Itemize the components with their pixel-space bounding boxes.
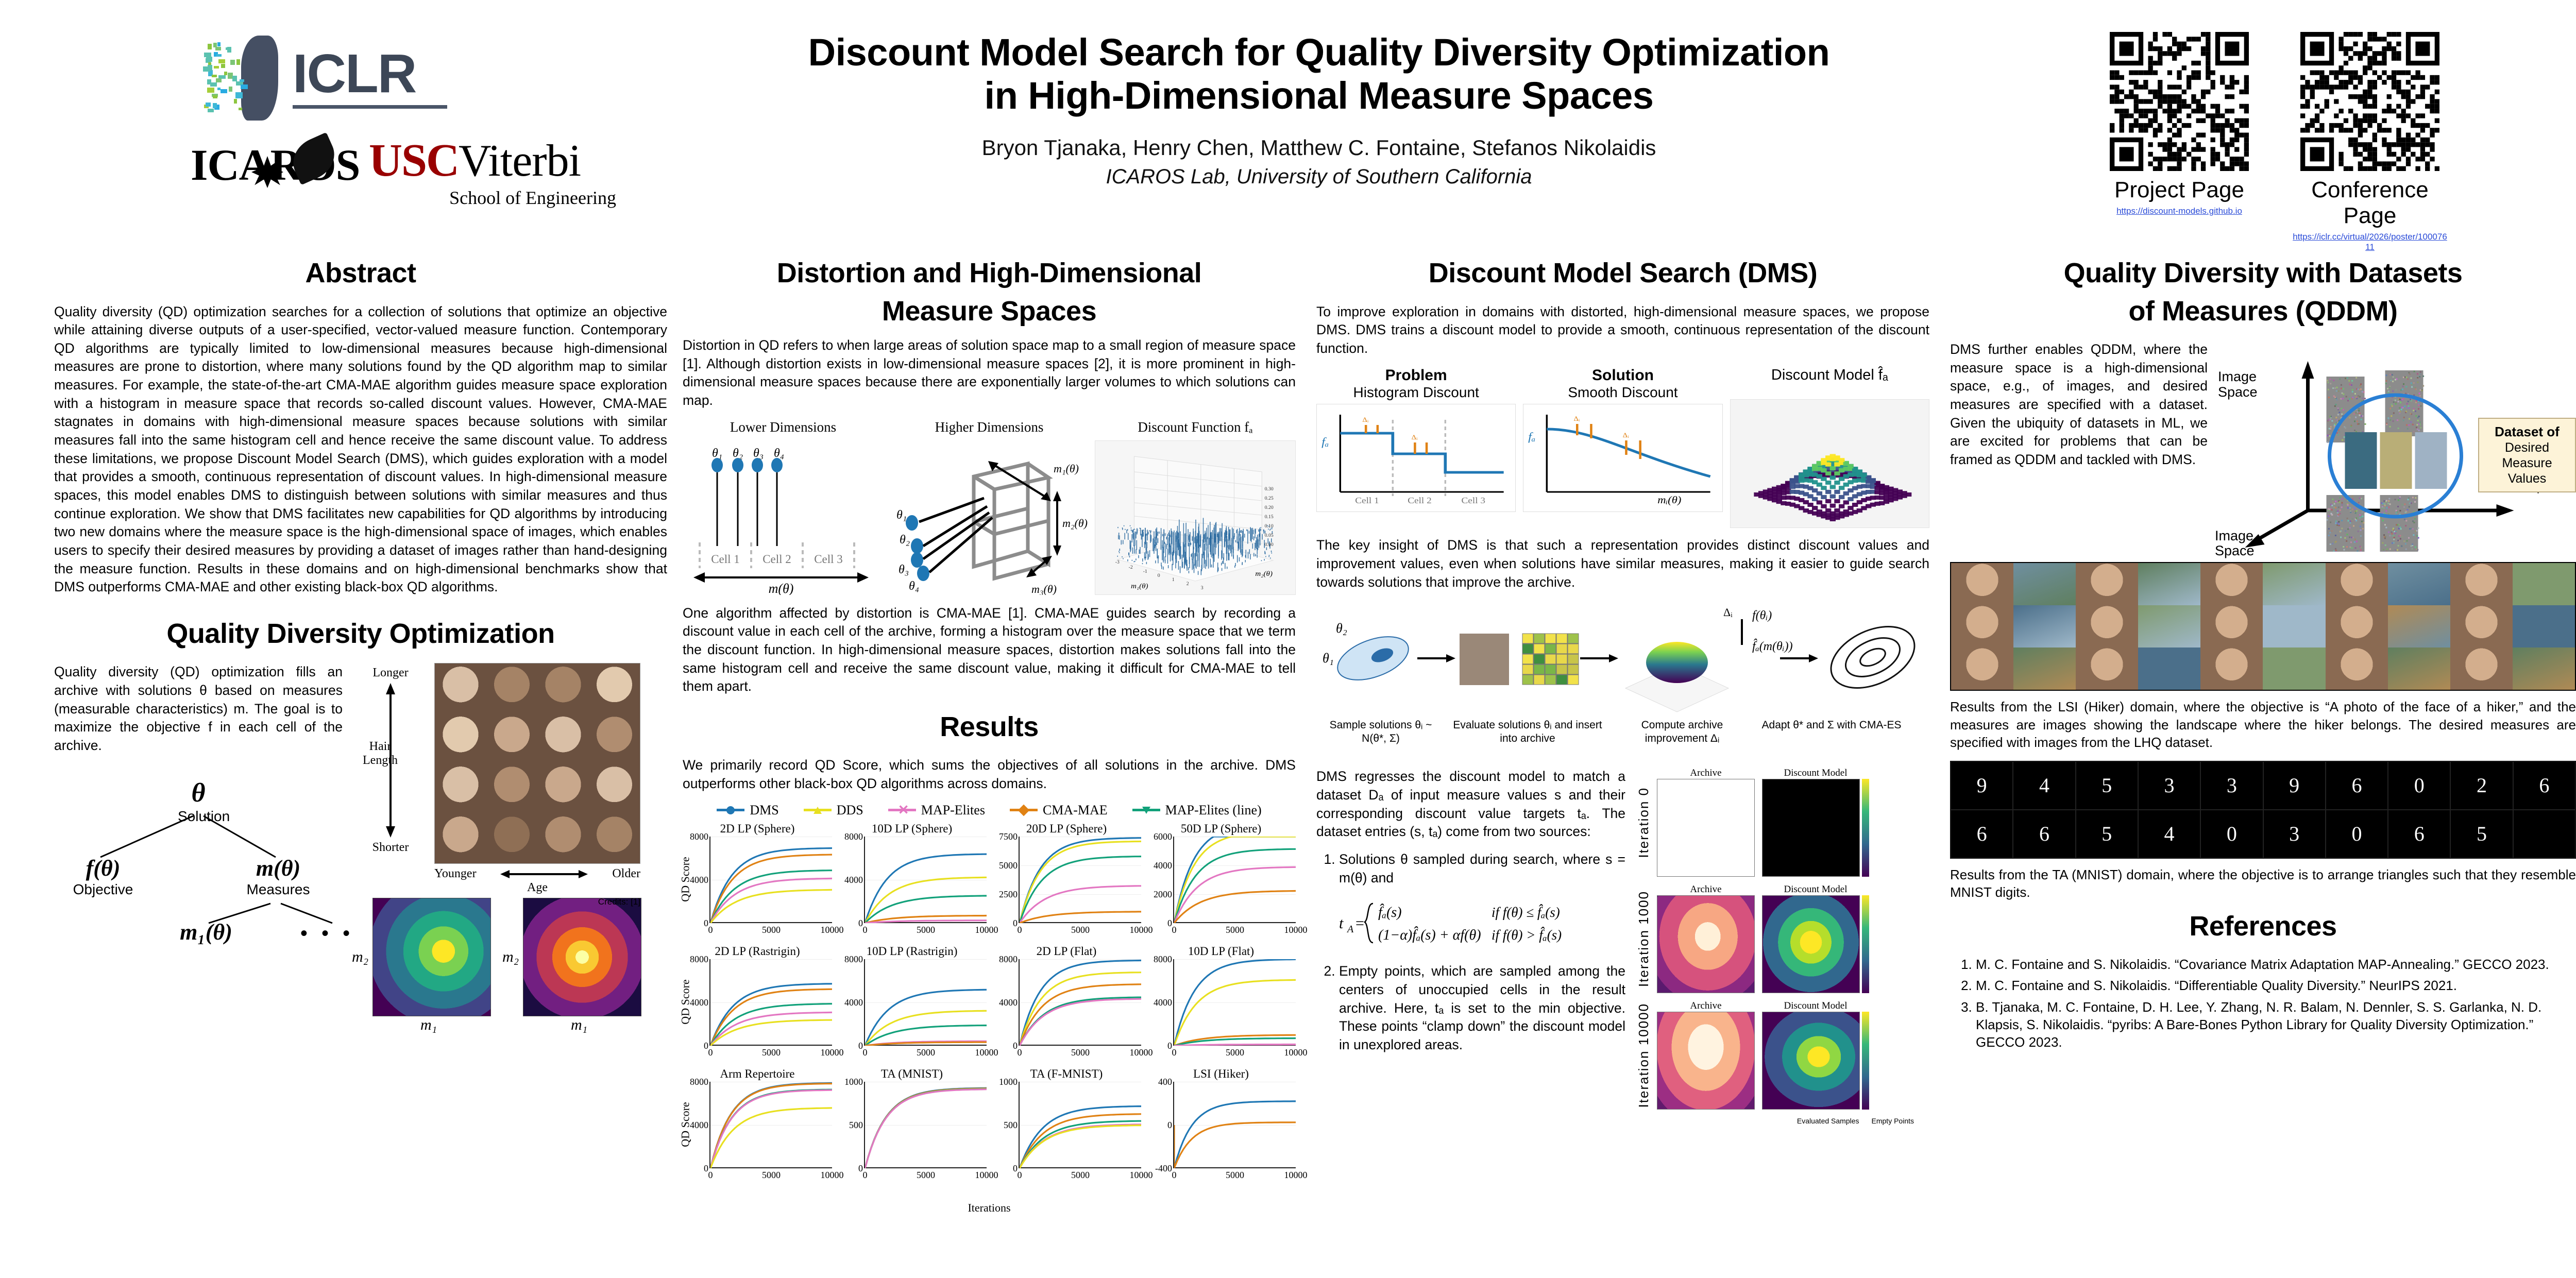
chart-panel: 50D LP (Sphere)02000400060000500010000 <box>1146 822 1296 941</box>
mnist-cell: 6 <box>2013 810 2075 858</box>
svg-text:t: t <box>1339 915 1344 932</box>
iteration-label: Iteration 10000 <box>1636 1003 1652 1107</box>
x-tick-label: 10000 <box>1284 925 1308 935</box>
dms-equation: t A = f̂ₐ(s) (1−α)f̂ₐ(s) + αf(θ) if f(θ)… <box>1316 894 1625 954</box>
model-title: Discount Model <box>1762 768 1869 779</box>
x-tick-label: 5000 <box>1226 1170 1244 1181</box>
lower-dimensions-diagram: θ₁θ₂ θ₃θ₄ <box>683 440 884 595</box>
mnist-cell: 3 <box>2138 761 2200 810</box>
mnist-cell: 4 <box>2138 810 2200 858</box>
y-tick-label: 500 <box>839 1120 863 1131</box>
credits-note: Credits: [1] <box>434 897 640 907</box>
archive-heatmaps: m₂ m₁ m₂ m₁ <box>352 898 661 1034</box>
model-image <box>1762 779 1860 877</box>
column-qddm: Quality Diversity with Datasets of Measu… <box>1950 258 2576 1055</box>
lsi-cell <box>2013 647 2076 690</box>
chart-plot-area: 0400080000500010000QD Score <box>709 837 832 923</box>
svg-text:Δᵢ: Δᵢ <box>1574 416 1581 423</box>
dms-iteration-figures: Iteration 0 Archive Discount Model Itera <box>1636 768 1924 1125</box>
abstract-heading: Abstract <box>54 258 667 289</box>
list-item: Solutions θ sampled during search, where… <box>1339 850 1625 887</box>
x-tick-label: 0 <box>863 1170 868 1181</box>
y-tick-label: 8000 <box>839 831 863 842</box>
qddm-heading-line2: of Measures (QDDM) <box>1950 296 2576 328</box>
y-tick-label: 2500 <box>994 889 1018 900</box>
tree-root-label: Solution <box>178 808 219 825</box>
dms-solution-sub: Smooth Discount <box>1523 384 1722 401</box>
abstract-text: Quality diversity (QD) optimization sear… <box>54 303 667 597</box>
model-title: Discount Model <box>1762 1000 1869 1012</box>
svg-text:2: 2 <box>1187 582 1189 587</box>
face-axis-bottom-label: Shorter <box>352 841 429 855</box>
x-tick-label: 10000 <box>1284 1170 1308 1181</box>
chart-panel: TA (F-MNIST)050010000500010000 <box>992 1067 1141 1186</box>
dataset-box-line1: Desired <box>2482 440 2572 455</box>
y-tick-label: 1000 <box>994 1077 1018 1087</box>
chart-panel: Arm Repertoire0400080000500010000QD Scor… <box>683 1067 832 1186</box>
svg-text:f̂ₐ(m(θᵢ)): f̂ₐ(m(θᵢ)) <box>1752 639 1793 653</box>
mnist-cell: 0 <box>2388 761 2450 810</box>
svg-text:0: 0 <box>1158 573 1160 578</box>
y-axis-title: QD Score <box>679 1102 692 1147</box>
results-text: We primarily record QD Score, which sums… <box>683 756 1296 793</box>
dms-problem-solution-figure: Problem Histogram Discount fₐ <box>1316 367 1929 528</box>
lsi-cell <box>2076 605 2138 647</box>
reference-item: M. C. Fontaine and S. Nikolaidis. “Diffe… <box>1976 977 2576 995</box>
svg-text:θ₃: θ₃ <box>753 447 764 460</box>
svg-text:m₂(θ): m₂(θ) <box>1255 570 1273 577</box>
usc-wordmark: USC <box>369 138 459 184</box>
dms-problem-plot: fₐ ΔᵢΔᵢ Cell 1Cell 2Cel <box>1316 404 1516 512</box>
dataset-box-line2: Measure <box>2482 455 2572 471</box>
dms-problem-panel: Problem Histogram Discount fₐ <box>1316 367 1516 528</box>
y-tick-label: 4000 <box>994 997 1018 1008</box>
iclr-logo: ICLR <box>191 28 716 126</box>
chart-plot-area: 02500500075000500010000 <box>1019 837 1141 923</box>
mnist-cell: 3 <box>2200 761 2263 810</box>
qr-conference-url[interactable]: https://iclr.cc/virtual/2026/poster/1000… <box>2293 232 2447 252</box>
mnist-cell <box>2513 810 2575 858</box>
reference-item: B. Tjanaka, M. C. Fontaine, D. H. Lee, Y… <box>1976 999 2576 1051</box>
dms-problem-heading: Problem <box>1316 367 1516 384</box>
poster-title-line1: Discount Model Search for Quality Divers… <box>690 31 1947 74</box>
svg-text:if f(θ) ≤ f̂ₐ(s): if f(θ) ≤ f̂ₐ(s) <box>1492 905 1560 921</box>
usc-school-label: School of Engineering <box>369 187 616 209</box>
iteration-label: Iteration 0 <box>1636 787 1652 858</box>
x-tick-label: 0 <box>863 925 868 935</box>
iteration-label: Iteration 1000 <box>1636 891 1652 987</box>
pipeline-caption-4: Adapt θ* and Σ with CMA-ES <box>1759 719 1904 744</box>
chart-panel: 20D LP (Sphere)02500500075000500010000 <box>992 822 1141 941</box>
usc-viterbi-logo: USC Viterbi School of Engineering <box>369 138 616 209</box>
author-list: Bryon Tjanaka, Henry Chen, Matthew C. Fo… <box>690 135 1947 160</box>
archive-image <box>1657 895 1755 993</box>
svg-text:θ₂: θ₂ <box>1336 621 1347 636</box>
heatmap1-x-label: m₁ <box>420 1016 437 1033</box>
chart-plot-area: 02000400060000500010000 <box>1173 837 1296 923</box>
colorbar <box>1862 1012 1869 1110</box>
chart-panel: 10D LP (Flat)0400080000500010000 <box>1146 945 1296 1063</box>
reference-list: M. C. Fontaine and S. Nikolaidis. “Covar… <box>1976 956 2576 1051</box>
lsi-cell <box>2326 647 2388 690</box>
mnist-cell: 6 <box>2388 810 2450 858</box>
y-tick-label: 5000 <box>994 860 1018 871</box>
reference-item: M. C. Fontaine and S. Nikolaidis. “Covar… <box>1976 956 2576 974</box>
lsi-cell <box>2013 605 2076 647</box>
gridline <box>865 1168 987 1169</box>
y-tick-label: 400 <box>1148 1077 1172 1087</box>
gridline <box>1174 923 1296 924</box>
svg-text:θ₃: θ₃ <box>899 563 909 576</box>
legend-label: DMS <box>750 803 778 818</box>
model-image <box>1762 895 1860 993</box>
pipeline-caption-1: Sample solutions θᵢ ~ N(θ*, Σ) <box>1316 719 1445 744</box>
svg-text:Δᵢ: Δᵢ <box>1623 432 1630 439</box>
lower-dimensions-caption: Lower Dimensions <box>683 419 884 435</box>
y-tick-label: 0 <box>1148 918 1172 929</box>
x-tick-label: 5000 <box>917 1047 935 1058</box>
face-axis-y-label-1: Hair <box>352 740 409 754</box>
qr-project[interactable]: Project Page https://discount-models.git… <box>2102 32 2257 252</box>
tree-objective-symbol: f(θ) <box>59 855 147 881</box>
pipeline-caption-2: Evaluate solutions θᵢ and insert into ar… <box>1450 719 1605 744</box>
affiliation: ICAROS Lab, University of Southern Calif… <box>690 165 1947 189</box>
qr-code-icon[interactable] <box>2300 32 2439 171</box>
tree-m1-symbol: m₁(θ) <box>160 919 252 945</box>
x-tick-label: 0 <box>1018 1170 1022 1181</box>
qd-opt-left: Quality diversity (QD) optimization fill… <box>54 663 343 1034</box>
dms-pipeline-figure: θ₂ θ₁ Δᵢ f(θᵢ) f̂ₐ(m(θᵢ)) <box>1316 601 1929 755</box>
heatmap1-image <box>372 898 491 1016</box>
x-tick-label: 5000 <box>1226 925 1244 935</box>
mnist-cell: 9 <box>1951 761 2013 810</box>
secondary-logos: ICAROS USC Viterbi School of Engineering <box>191 138 716 209</box>
higher-dimensions-figure: Higher Dimensions <box>889 419 1090 595</box>
gridline <box>865 1046 987 1046</box>
face-axis-x-right: Older <box>612 867 640 881</box>
qr-conference[interactable]: Conference Page https://iclr.cc/virtual/… <box>2293 32 2447 252</box>
svg-text:(1−α)f̂ₐ(s) + αf(θ): (1−α)f̂ₐ(s) + αf(θ) <box>1378 927 1481 943</box>
results-x-axis-title: Iterations <box>683 1201 1296 1215</box>
colorbar <box>1862 779 1869 877</box>
iteration-archive: Archive <box>1657 768 1755 877</box>
qddm-heading-line1: Quality Diversity with Datasets <box>1950 258 2576 289</box>
lsi-cell <box>2200 563 2263 605</box>
y-tick-label: 0 <box>839 1041 863 1051</box>
dataset-box-title: Dataset of <box>2482 424 2572 440</box>
y-tick-label: 0 <box>994 1041 1018 1051</box>
svg-text:fₐ: fₐ <box>1528 431 1535 444</box>
lsi-cell <box>2200 605 2263 647</box>
chart-panel: TA (MNIST)050010000500010000 <box>837 1067 987 1186</box>
column-dms: Discount Model Search (DMS) To improve e… <box>1316 258 1929 1125</box>
lsi-result-grid <box>1950 562 2576 691</box>
iteration-model: Discount Model <box>1762 1000 1869 1110</box>
qd-opt-text: Quality diversity (QD) optimization fill… <box>54 663 343 755</box>
chart-panel: 10D LP (Rastrigin)0400080000500010000 <box>837 945 987 1063</box>
heatmap-2: m₂ m₁ <box>502 898 641 1034</box>
x-tick-label: 5000 <box>917 925 935 935</box>
qd-opt-right: Longer Hair Length Shorter <box>352 663 661 1034</box>
lsi-cell <box>2450 605 2513 647</box>
iclr-underline <box>293 105 447 109</box>
lsi-cell <box>2263 647 2325 690</box>
heatmap-1: m₂ m₁ <box>352 898 491 1034</box>
column-abstract: Abstract Quality diversity (QD) optimiza… <box>54 258 667 1034</box>
gridline <box>1020 1168 1141 1169</box>
mnist-cell: 0 <box>2326 810 2388 858</box>
archive-title: Archive <box>1657 884 1755 895</box>
iteration-model: Discount Model <box>1762 768 1869 877</box>
svg-text:Cell 2: Cell 2 <box>762 553 791 566</box>
legend-entry: CMA-MAE <box>1010 803 1108 818</box>
heatmap2-image <box>523 898 641 1016</box>
dms-text-3: DMS regresses the discount model to matc… <box>1316 768 1625 841</box>
distortion-text-1: Distortion in QD refers to when large ar… <box>683 336 1296 410</box>
x-tick-label: 5000 <box>1071 1047 1090 1058</box>
lsi-cell <box>2513 605 2575 647</box>
lsi-cell <box>2513 647 2575 690</box>
legend-entry: MAP-Elites (line) <box>1132 803 1262 818</box>
iteration-archive: Archive <box>1657 1000 1755 1110</box>
svg-text:θ₄: θ₄ <box>774 447 784 460</box>
face-axis-y-label-2: Length <box>352 754 409 768</box>
y-tick-label: 0 <box>685 918 708 929</box>
tree-node-objective: f(θ) Objective <box>59 855 147 898</box>
y-tick-label: 8000 <box>839 954 863 965</box>
lsi-cell <box>2513 563 2575 605</box>
pipeline-caption-3: Compute archive improvement Δᵢ <box>1610 719 1754 744</box>
svg-text:-3: -3 <box>1115 560 1120 565</box>
lsi-cell <box>2013 563 2076 605</box>
title-block: Discount Model Search for Quality Divers… <box>690 31 1947 189</box>
svg-text:Cell 3: Cell 3 <box>814 553 843 566</box>
lsi-cell <box>2138 563 2200 605</box>
mnist-cell: 4 <box>2013 761 2075 810</box>
lsi-cell <box>2450 563 2513 605</box>
gridline <box>865 923 987 924</box>
chart-panel: 2D LP (Rastrigin)0400080000500010000QD S… <box>683 945 832 1063</box>
qd-tree-diagram: θ Solution f(θ) Objective m(θ) Measures … <box>54 769 343 939</box>
archive-title: Archive <box>1657 768 1755 779</box>
svg-text:Cell 2: Cell 2 <box>1408 496 1432 505</box>
svg-text:0.00: 0.00 <box>1265 542 1274 548</box>
lsi-cell <box>2138 605 2200 647</box>
sun-icon <box>251 156 283 188</box>
svg-text:m₁(θ): m₁(θ) <box>1054 462 1079 475</box>
viterbi-wordmark: Viterbi <box>459 139 581 184</box>
lsi-cell <box>1951 647 2013 690</box>
svg-text:-1: -1 <box>1143 569 1147 574</box>
dataset-box-line3: Values <box>2482 471 2572 486</box>
tree-measures-symbol: m(θ) <box>232 855 325 881</box>
y-tick-label: 2000 <box>1148 889 1172 900</box>
dms-text-2: The key insight of DMS is that such a re… <box>1316 536 1929 591</box>
x-tick-label: 5000 <box>1071 1170 1090 1181</box>
heatmap2-x-label: m₁ <box>571 1016 587 1033</box>
gridline <box>710 923 832 924</box>
iteration-model: Discount Model <box>1762 884 1869 993</box>
lsi-cell <box>1951 563 2013 605</box>
x-tick-label: 0 <box>1018 925 1022 935</box>
archive-image <box>1657 1012 1755 1110</box>
svg-text:Δᵢ: Δᵢ <box>1412 434 1418 441</box>
qr-code-icon[interactable] <box>2110 32 2249 171</box>
results-chart-grid: 2D LP (Sphere)0400080000500010000QD Scor… <box>683 822 1296 1186</box>
mnist-cell: 6 <box>2513 761 2575 810</box>
svg-text:m(θ): m(θ) <box>769 581 794 595</box>
svg-text:m₁(θ): m₁(θ) <box>1131 582 1148 590</box>
legend-label: MAP-Elites (line) <box>1165 803 1262 818</box>
iter-legend-2: Empty Points <box>1872 1117 1914 1125</box>
lsi-cell <box>2076 563 2138 605</box>
y-tick-label: 0 <box>685 1041 708 1051</box>
lsi-cell <box>2326 563 2388 605</box>
x-tick-label: 5000 <box>762 1170 781 1181</box>
y-tick-label: 0 <box>839 1163 863 1174</box>
dms-model-heading: Discount Model f̂ₐ <box>1730 367 1929 384</box>
x-tick-label: 0 <box>708 1170 713 1181</box>
svg-text:3: 3 <box>1201 586 1204 591</box>
chart-plot-area: 0400080000500010000 <box>1019 959 1141 1046</box>
y-tick-label: 1000 <box>839 1077 863 1087</box>
legend-swatch <box>1132 809 1160 811</box>
qddm-axis-z: ImageSpace <box>2215 529 2255 559</box>
dms-source-list-2: Empty points, which are sampled among th… <box>1339 962 1625 1054</box>
x-tick-label: 5000 <box>762 1047 781 1058</box>
legend-swatch <box>804 809 832 811</box>
tree-node-measures: m(θ) Measures <box>232 855 325 898</box>
lsi-cell <box>1951 605 2013 647</box>
x-tick-label: 5000 <box>1071 925 1090 935</box>
face-axis-x-mid: Age <box>527 881 548 894</box>
svg-text:Δᵢ: Δᵢ <box>1723 606 1733 619</box>
svg-text:f(θᵢ): f(θᵢ) <box>1752 609 1772 622</box>
y-tick-label: 6000 <box>1148 831 1172 842</box>
legend-swatch <box>1010 809 1038 811</box>
y-axis-title: QD Score <box>679 979 692 1024</box>
distortion-heading-line1: Distortion and High-Dimensional <box>683 258 1296 289</box>
tree-objective-label: Objective <box>59 881 147 898</box>
y-tick-label: 8000 <box>685 1077 708 1087</box>
legend-label: DDS <box>837 803 863 818</box>
legend-swatch: ✕ <box>888 809 916 811</box>
logo-group: ICLR ICAROS USC Viterbi School of Engine… <box>191 28 716 245</box>
y-tick-label: 4000 <box>1148 997 1172 1008</box>
chart-plot-area: -40004000500010000 <box>1173 1082 1296 1168</box>
mnist-cell: 5 <box>2076 810 2138 858</box>
lower-dimensions-figure: Lower Dimensions θ₁θ₂ θ₃θ₄ <box>683 419 884 595</box>
lsi-cell <box>2200 647 2263 690</box>
svg-text:if f(θ) > f̂ₐ(s): if f(θ) > f̂ₐ(s) <box>1492 927 1562 943</box>
heatmap1-y-label: m₂ <box>352 948 368 966</box>
lsi-cell <box>2326 605 2388 647</box>
y-tick-label: 0 <box>1148 1041 1172 1051</box>
mnist-cell: 6 <box>2326 761 2388 810</box>
references-heading: References <box>1950 911 2576 943</box>
iteration-row: Iteration 10000 Archive Discount Model <box>1636 1000 1924 1110</box>
mnist-cell: 5 <box>2076 761 2138 810</box>
y-tick-label: 0 <box>994 918 1018 929</box>
lsi-cell <box>2388 605 2450 647</box>
iteration-row: Iteration 0 Archive Discount Model <box>1636 768 1924 877</box>
x-tick-label: 0 <box>1172 1170 1177 1181</box>
dms-solution-heading: Solution <box>1523 367 1722 384</box>
face-axis-top-label: Longer <box>352 666 429 680</box>
face-axis-x-left: Younger <box>434 867 477 881</box>
dms-model-panel: Discount Model f̂ₐ <box>1730 367 1929 528</box>
lsi-cell <box>2388 563 2450 605</box>
svg-text:1: 1 <box>1172 577 1175 583</box>
svg-text:-2: -2 <box>1129 565 1133 570</box>
y-tick-label: 0 <box>685 1163 708 1174</box>
legend-swatch <box>717 809 744 811</box>
iter-legend-1: Evaluated Samples <box>1797 1117 1859 1125</box>
discount-function-plot: 0.300.250.20 0.150.100.05 0.00 -3-2-1 01… <box>1095 440 1296 595</box>
chart-plot-area: 0400080000500010000QD Score <box>709 959 832 1046</box>
chart-plot-area: 0400080000500010000 <box>864 837 987 923</box>
y-tick-label: 0 <box>1148 1120 1172 1131</box>
chart-plot-area: 050010000500010000 <box>864 1082 987 1168</box>
x-tick-label: 5000 <box>762 925 781 935</box>
chart-plot-area: 050010000500010000 <box>1019 1082 1141 1168</box>
face-archive-figure: Longer Hair Length Shorter <box>352 663 661 884</box>
poster-title-line2: in High-Dimensional Measure Spaces <box>690 74 1947 117</box>
poster-root: ICLR ICAROS USC Viterbi School of Engine… <box>0 0 2576 1278</box>
dms-text-1: To improve exploration in domains with d… <box>1316 303 1929 358</box>
legend-label: CMA-MAE <box>1043 803 1108 818</box>
svg-text:0.25: 0.25 <box>1265 496 1274 501</box>
list-item: Empty points, which are sampled among th… <box>1339 962 1625 1054</box>
y-tick-label: 8000 <box>994 954 1018 965</box>
mnist-cell: 3 <box>2263 810 2326 858</box>
qddm-figure: ImageSpace ImageSpace ImageSpace Dataset… <box>2215 340 2576 562</box>
qd-opt-heading: Quality Diversity Optimization <box>54 618 667 650</box>
lsi-cell <box>2388 647 2450 690</box>
svg-text:θ₁: θ₁ <box>896 508 907 522</box>
svg-text:Cell 3: Cell 3 <box>1461 496 1485 505</box>
qr-group: Project Page https://discount-models.git… <box>2102 32 2576 252</box>
dms-source-list: Solutions θ sampled during search, where… <box>1339 850 1625 887</box>
results-legend: DMSDDS✕MAP-ElitesCMA-MAEMAP-Elites (line… <box>683 803 1296 818</box>
y-tick-label: 7500 <box>994 831 1018 842</box>
tree-node-m1: m₁(θ) <box>160 919 252 945</box>
svg-text:A: A <box>1346 924 1354 935</box>
svg-text:m₃(θ): m₃(θ) <box>1031 583 1057 595</box>
svg-text:0.30: 0.30 <box>1265 487 1274 492</box>
heatmap2-y-label: m₂ <box>502 948 519 966</box>
gridline <box>1174 1168 1296 1169</box>
svg-text:fₐ: fₐ <box>1321 436 1329 449</box>
dms-heading: Discount Model Search (DMS) <box>1316 258 1929 289</box>
y-tick-label: 500 <box>994 1120 1018 1131</box>
lsi-cell <box>2076 647 2138 690</box>
svg-text:f̂ₐ(s): f̂ₐ(s) <box>1378 904 1402 921</box>
dataset-callout-box: Dataset of Desired Measure Values <box>2478 418 2576 492</box>
higher-dimensions-diagram: θ₁θ₂ θ₃θ₄ m₁(θ) m₂(θ) <box>889 440 1090 595</box>
y-tick-label: 4000 <box>839 997 863 1008</box>
discount-function-figure: Discount Function fₐ <box>1095 419 1296 595</box>
chart-panel: LSI (Hiker)-40004000500010000 <box>1146 1067 1296 1186</box>
icaros-logo: ICAROS <box>191 143 345 209</box>
x-tick-label: 0 <box>1018 1047 1022 1058</box>
qr-project-label: Project Page <box>2102 177 2257 203</box>
qr-project-url[interactable]: https://discount-models.github.io <box>2102 206 2257 216</box>
archive-title: Archive <box>1657 1000 1755 1012</box>
mnist-cell: 0 <box>2200 810 2263 858</box>
qr-conference-label: Conference Page <box>2293 177 2447 229</box>
higher-dimensions-caption: Higher Dimensions <box>889 419 1090 435</box>
